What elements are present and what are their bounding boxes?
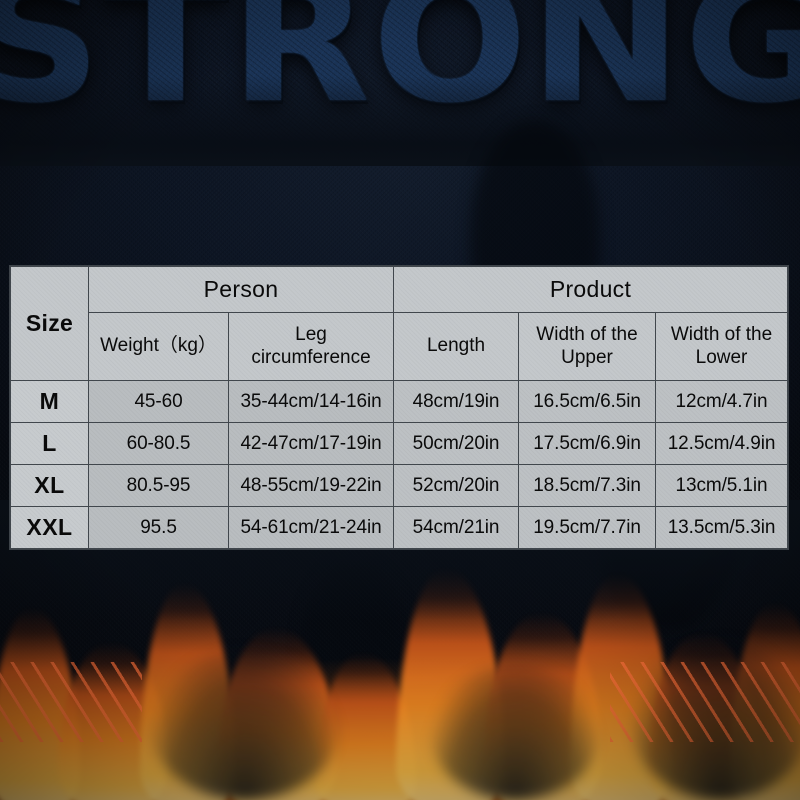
cell-leg: 48-55cm/19-22in xyxy=(229,465,394,507)
size-chart-poster: STRONGER xyxy=(0,0,800,800)
header-lower-line2: Lower xyxy=(696,347,748,368)
table-row: XL 80.5-95 48-55cm/19-22in 52cm/20in 18.… xyxy=(11,465,788,507)
header-cell-width-lower: Width of the Lower xyxy=(656,313,788,381)
cell-weight: 60-80.5 xyxy=(89,423,229,465)
cell-size: L xyxy=(11,423,89,465)
cell-weight: 45-60 xyxy=(89,381,229,423)
cell-upper: 16.5cm/6.5in xyxy=(519,381,656,423)
cell-length: 48cm/19in xyxy=(394,381,519,423)
headline-fade xyxy=(0,76,800,166)
cell-weight: 80.5-95 xyxy=(89,465,229,507)
diagonal-stripes-right xyxy=(610,662,800,742)
cell-size: M xyxy=(11,381,89,423)
cell-length: 52cm/20in xyxy=(394,465,519,507)
flame-shadow xyxy=(150,650,340,800)
cell-lower: 13.5cm/5.3in xyxy=(656,507,788,549)
header-cell-leg-circumference: Leg circumference xyxy=(229,313,394,381)
cell-leg: 35-44cm/14-16in xyxy=(229,381,394,423)
flame-shadow xyxy=(430,665,600,800)
header-upper-line1: Width of the xyxy=(536,324,637,345)
cell-length: 50cm/20in xyxy=(394,423,519,465)
cell-leg: 42-47cm/17-19in xyxy=(229,423,394,465)
table-row: L 60-80.5 42-47cm/17-19in 50cm/20in 17.5… xyxy=(11,423,788,465)
header-cell-length: Length xyxy=(394,313,519,381)
cell-upper: 18.5cm/7.3in xyxy=(519,465,656,507)
header-group-person: Person xyxy=(89,267,394,313)
header-leg-line1: Leg xyxy=(295,324,327,345)
header-cell-size: Size xyxy=(11,267,89,381)
cell-weight: 95.5 xyxy=(89,507,229,549)
table-row: XXL 95.5 54-61cm/21-24in 54cm/21in 19.5c… xyxy=(11,507,788,549)
cell-lower: 12.5cm/4.9in xyxy=(656,423,788,465)
header-cell-width-upper: Width of the Upper xyxy=(519,313,656,381)
header-group-product: Product xyxy=(394,267,788,313)
table-row: M 45-60 35-44cm/14-16in 48cm/19in 16.5cm… xyxy=(11,381,788,423)
cell-leg: 54-61cm/21-24in xyxy=(229,507,394,549)
cell-size: XL xyxy=(11,465,89,507)
table-header-row-columns: Weight（kg） Leg circumference Length Widt… xyxy=(11,313,788,381)
header-cell-weight: Weight（kg） xyxy=(89,313,229,381)
cell-upper: 19.5cm/7.7in xyxy=(519,507,656,549)
cell-length: 54cm/21in xyxy=(394,507,519,549)
table-header-row-groups: Size Person Product xyxy=(11,267,788,313)
header-lower-line1: Width of the xyxy=(671,324,772,345)
cell-size: XXL xyxy=(11,507,89,549)
cell-lower: 12cm/4.7in xyxy=(656,381,788,423)
header-upper-line2: Upper xyxy=(561,347,613,368)
cell-upper: 17.5cm/6.9in xyxy=(519,423,656,465)
header-leg-line2: circumference xyxy=(251,347,370,368)
cell-lower: 13cm/5.1in xyxy=(656,465,788,507)
size-chart-table-container: Size Person Product Weight（kg） Leg circu… xyxy=(10,266,787,549)
headline-banner: STRONGER xyxy=(0,0,800,166)
diagonal-stripes-left xyxy=(0,662,142,742)
size-chart-table: Size Person Product Weight（kg） Leg circu… xyxy=(10,266,788,549)
